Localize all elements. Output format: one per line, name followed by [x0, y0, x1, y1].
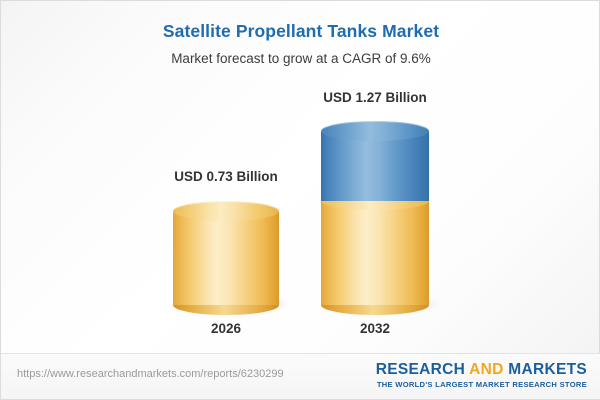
- logo-text-markets: MARKETS: [504, 361, 587, 378]
- bar-value-label-2032: USD 1.27 Billion: [265, 90, 485, 105]
- category-label-2032: 2032: [265, 321, 485, 336]
- chart-plot-area: USD 0.73 Billion 2026 USD 1.27 Billion 2…: [1, 1, 600, 356]
- cylinder-body-yellow: [173, 211, 279, 305]
- logo-text-and: AND: [469, 361, 503, 378]
- chart-canvas: Satellite Propellant Tanks Market Market…: [0, 0, 600, 400]
- cylinder-top-cap-blue: [321, 121, 429, 141]
- logo-tagline: THE WORLD'S LARGEST MARKET RESEARCH STOR…: [376, 379, 587, 390]
- bar-group-2032: USD 1.27 Billion 2032: [321, 1, 429, 356]
- cylinder-2032[interactable]: [321, 121, 429, 309]
- cylinder-body-blue: [321, 131, 429, 201]
- logo-wordmark: RESEARCH AND MARKETS: [376, 361, 587, 378]
- report-url[interactable]: https://www.researchandmarkets.com/repor…: [17, 368, 284, 380]
- research-and-markets-logo[interactable]: RESEARCH AND MARKETS THE WORLD'S LARGEST…: [376, 361, 587, 390]
- bar-group-2026: USD 0.73 Billion 2026: [173, 1, 279, 356]
- bar-value-label-2026: USD 0.73 Billion: [116, 169, 336, 184]
- footer: https://www.researchandmarkets.com/repor…: [1, 353, 600, 399]
- cylinder-2026[interactable]: [173, 201, 279, 309]
- cylinder-body-yellow: [321, 201, 429, 305]
- cylinder-top-cap-yellow: [173, 201, 279, 221]
- logo-text-research: RESEARCH: [376, 361, 469, 378]
